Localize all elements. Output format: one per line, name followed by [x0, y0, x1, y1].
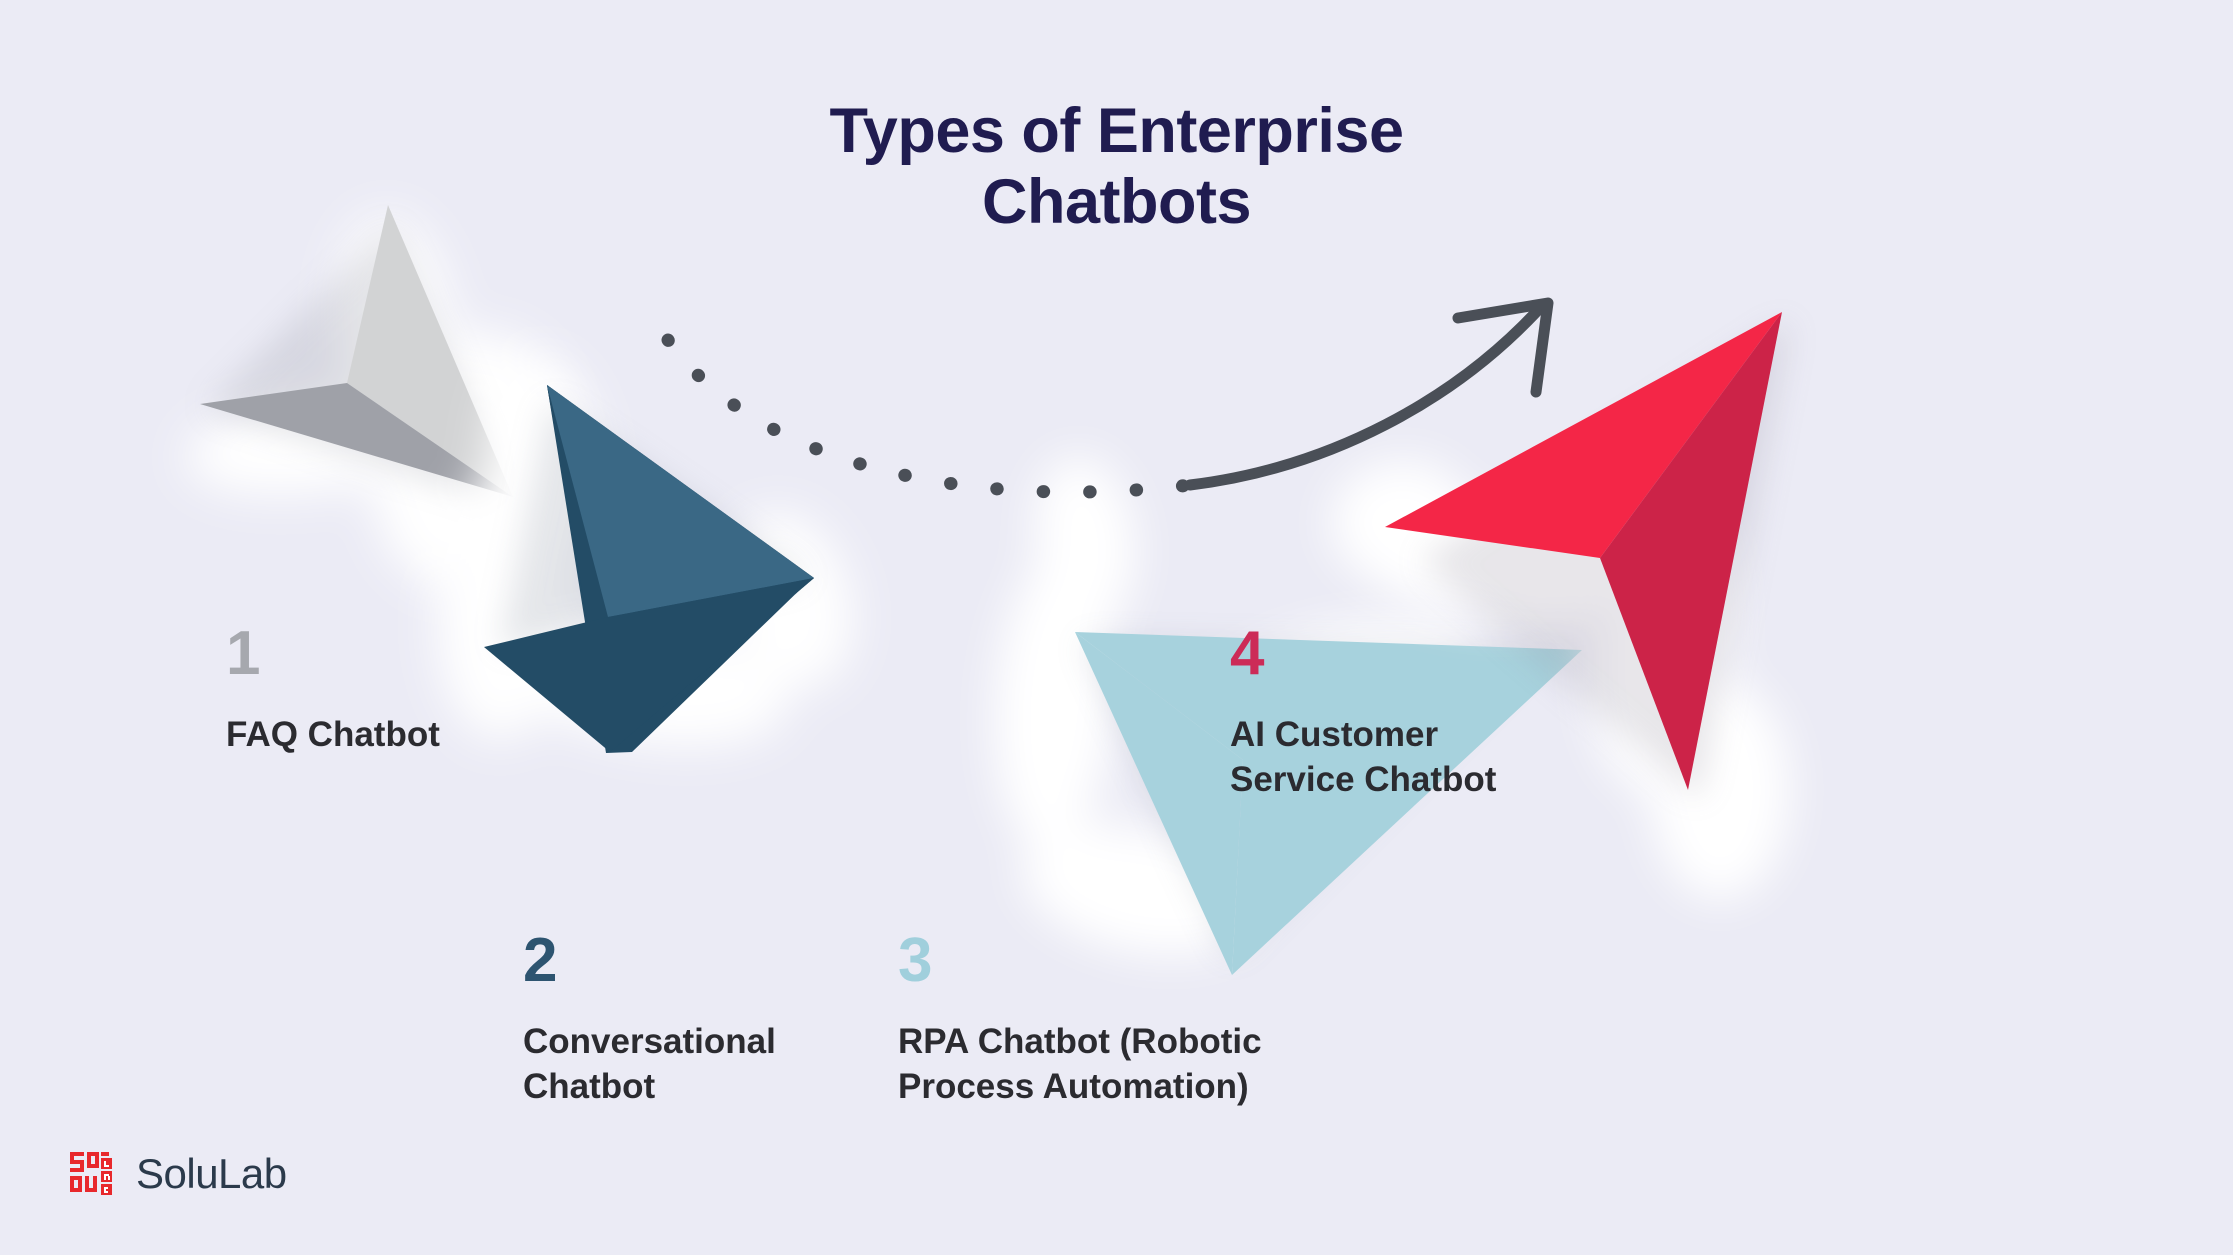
- paper-plane-gray-facet-dark: [200, 383, 513, 497]
- item-4-label-group: 4 AI Customer Service Chatbot: [1230, 623, 1496, 803]
- solulab-logo[interactable]: SoluLab: [68, 1148, 287, 1200]
- item-2-number: 2: [523, 930, 776, 992]
- paper-plane-gray-glow: [179, 210, 593, 610]
- paper-plane-dark-blue-shadow: [500, 400, 810, 650]
- infographic-canvas: Types of Enterprise Chatbots: [0, 0, 2233, 1255]
- item-3-label: RPA Chatbot (Robotic Process Automation): [898, 1020, 1262, 1110]
- paper-plane-gray-facet-light: [347, 205, 513, 497]
- paper-plane-red-facet-light: [1385, 312, 1782, 558]
- curved-arrow-solid-segment: [1190, 308, 1540, 485]
- paper-plane-dark-blue-glow: [424, 356, 873, 767]
- item-2-label: Conversational Chatbot: [523, 1020, 776, 1110]
- paper-plane-red: [1321, 312, 1790, 900]
- curved-arrow-head: [1458, 303, 1548, 392]
- curved-dotted-up-arrow: [668, 303, 1548, 492]
- item-1-label-group: 1 FAQ Chatbot: [226, 623, 440, 758]
- item-3-number: 3: [898, 930, 1262, 992]
- paper-plane-light-blue-facet-dark: [1075, 632, 1243, 975]
- page-title-line-2: Chatbots: [517, 167, 1717, 238]
- item-2-label-group: 2 Conversational Chatbot: [523, 930, 776, 1110]
- paper-plane-gray: [179, 205, 593, 609]
- paper-plane-dark-blue-facet-dark: [547, 385, 812, 753]
- page-title-line-1: Types of Enterprise: [517, 96, 1717, 167]
- paper-plane-red-facet-dark: [1600, 312, 1782, 790]
- curved-arrow-dotted-segment: [668, 340, 1190, 492]
- item-4-number: 4: [1230, 623, 1496, 685]
- item-1-label: FAQ Chatbot: [226, 713, 440, 758]
- solulab-logo-mark-icon: [68, 1148, 120, 1200]
- item-3-label-group: 3 RPA Chatbot (Robotic Process Automatio…: [898, 930, 1262, 1110]
- paper-plane-dark-blue: [424, 356, 873, 767]
- paper-plane-dark-blue-facet-light: [547, 385, 814, 617]
- item-1-number: 1: [226, 623, 440, 685]
- solulab-brand-name: SoluLab: [136, 1153, 287, 1195]
- paper-plane-gray-shadow: [205, 225, 520, 510]
- page-title: Types of Enterprise Chatbots: [517, 96, 1717, 237]
- item-4-label: AI Customer Service Chatbot: [1230, 713, 1496, 803]
